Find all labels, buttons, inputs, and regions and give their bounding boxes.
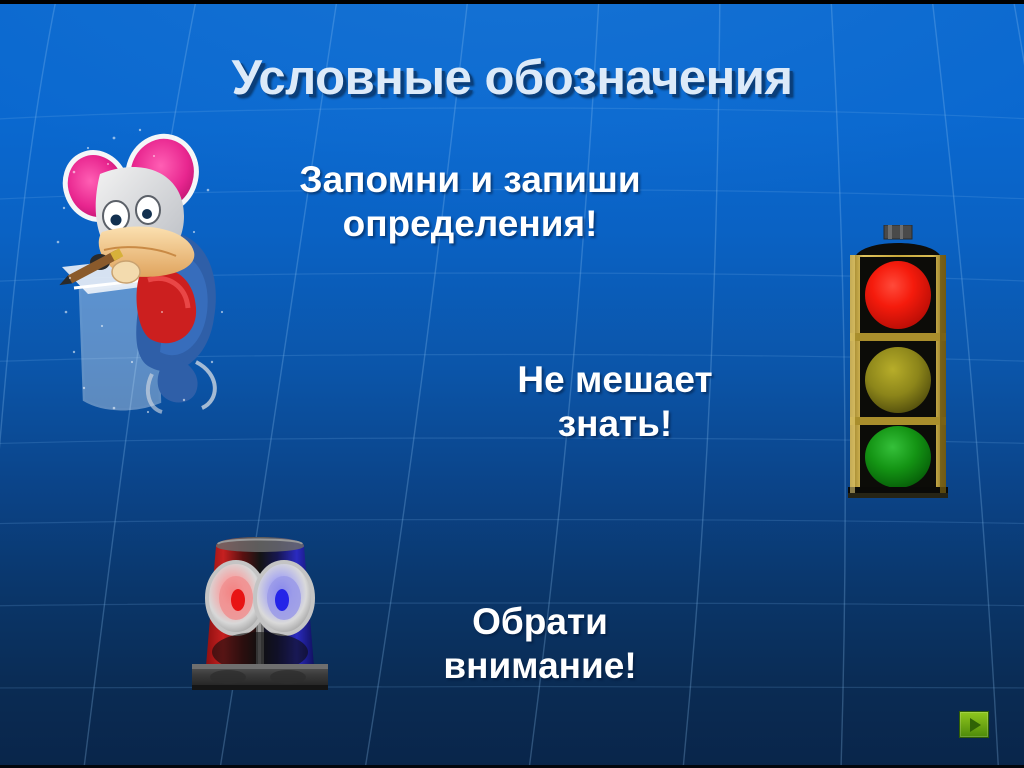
presentation-slide: Условные обозначения xyxy=(0,0,1024,768)
legend-text-nice-to-know: Не мешает знать! xyxy=(420,358,810,445)
legend-text-remember: Запомни и запиши определения! xyxy=(215,158,725,245)
slide-title: Условные обозначения xyxy=(0,50,1024,106)
play-triangle-icon xyxy=(970,718,981,732)
legend-text-attention: Обрати внимание! xyxy=(370,600,710,687)
cartoon-mouse-writing-icon xyxy=(44,112,244,422)
police-siren-beacon-icon xyxy=(168,524,352,700)
traffic-light-icon xyxy=(838,225,958,505)
slide-top-border xyxy=(0,0,1024,4)
next-slide-button[interactable] xyxy=(959,711,989,738)
